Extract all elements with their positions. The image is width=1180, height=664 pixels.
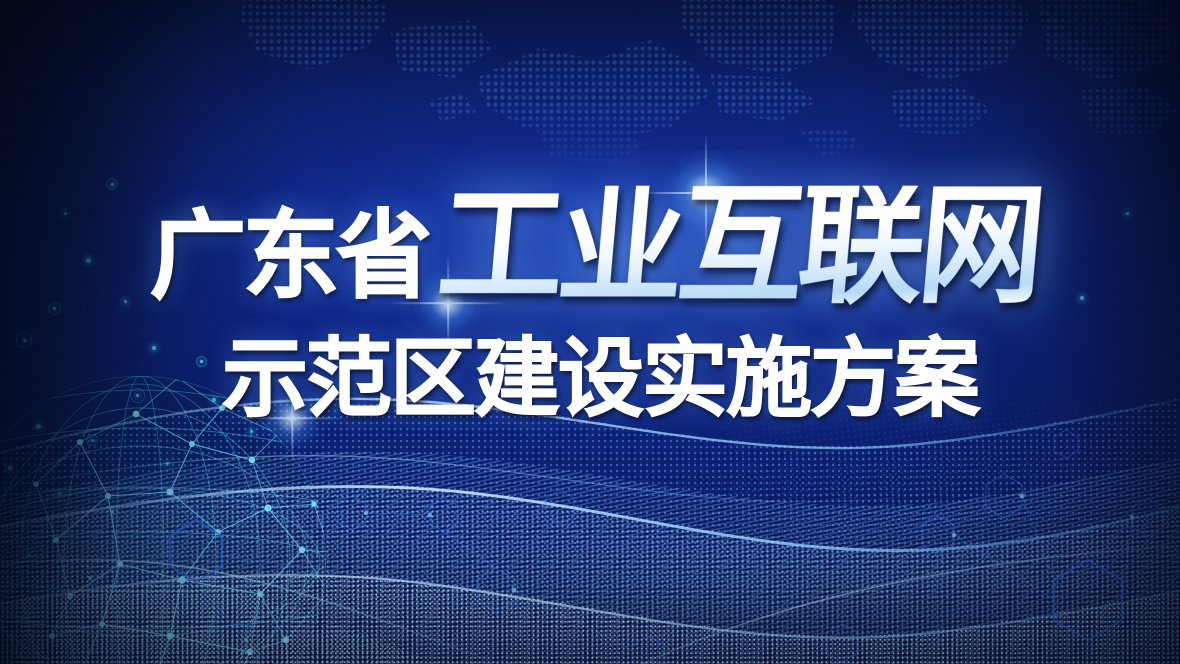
poster-canvas: 广东省 工业互联网 示范区建设实施方案	[0, 0, 1180, 664]
vignette-overlay	[0, 0, 1180, 664]
